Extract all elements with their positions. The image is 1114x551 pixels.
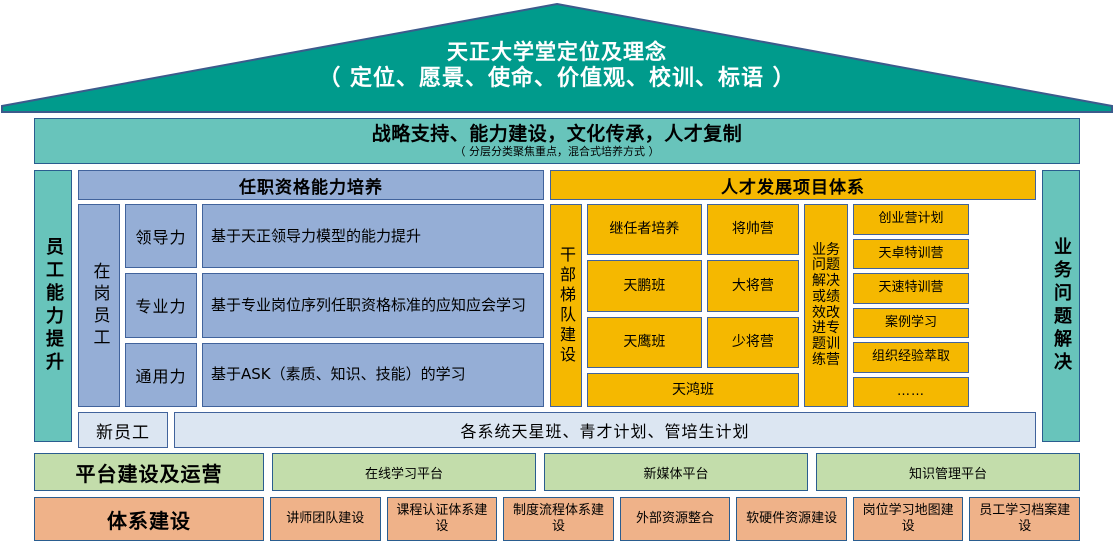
strategy-band: 战略支持、能力建设，文化传承，人才复制 （ 分层分类聚焦重点，混合式培养方式 ）	[34, 118, 1080, 164]
program-general-camp[interactable]: 将帅营	[707, 204, 799, 255]
program-successor-training[interactable]: 继任者培养	[587, 204, 702, 255]
capability-desc-general: 基于ASK（素质、知识、技能）的学习	[202, 343, 544, 407]
program-side-list: 创业营计划 天卓特训营 天速特训营 案例学习 组织经验萃取 ……	[853, 204, 969, 407]
capability-desc-professional: 基于专业岗位序列任职资格标准的应知应会学习	[202, 273, 544, 337]
program-org-experience-extraction[interactable]: 组织经验萃取	[853, 342, 969, 373]
program-grid: 继任者培养 将帅营 天鹏班 大将营 天鹰班 少将营	[587, 204, 799, 407]
capability-name-professional[interactable]: 专业力	[125, 273, 197, 337]
orange-panel-content: 干部梯队建设 继任者培养 将帅营 天鹏班 大将营	[550, 204, 1036, 407]
system-item-instructor-team[interactable]: 讲师团队建设	[270, 497, 381, 541]
capability-row: 领导力 基于天正领导力模型的能力提升	[125, 204, 544, 268]
program-row: 天鹏班 大将营	[587, 260, 799, 311]
new-employee-row: 新员工 各系统天星班、青才计划、管培生计划	[78, 412, 1036, 448]
side-column-business-problem-solving: 业务问题解决	[1042, 170, 1080, 442]
capability-name-general[interactable]: 通用力	[125, 343, 197, 407]
roof-banner: 天正大学堂定位及理念 （ 定位、愿景、使命、价值观、校训、标语 ）	[0, 2, 1114, 114]
program-minor-general-camp[interactable]: 少将营	[707, 317, 799, 368]
program-row: 天鹰班 少将营	[587, 317, 799, 368]
training-architecture-diagram: 天正大学堂定位及理念 （ 定位、愿景、使命、价值观、校训、标语 ） 战略支持、能…	[0, 0, 1114, 551]
capability-row: 通用力 基于ASK（素质、知识、技能）的学习	[125, 343, 544, 407]
platform-row-title: 平台建设及运营	[34, 453, 264, 491]
program-tianying-class[interactable]: 天鹰班	[587, 317, 702, 368]
system-item-hardware-software[interactable]: 软硬件资源建设	[736, 497, 847, 541]
program-tianpeng-class[interactable]: 天鹏班	[587, 260, 702, 311]
program-more-ellipsis[interactable]: ……	[853, 377, 969, 408]
new-employee-tag[interactable]: 新员工	[78, 412, 168, 448]
capability-row: 专业力 基于专业岗位序列任职资格标准的应知应会学习	[125, 273, 544, 337]
system-item-course-certification[interactable]: 课程认证体系建设	[387, 497, 498, 541]
business-problem-training-label: 业务问题解决或绩效改进专题训练营	[804, 204, 848, 407]
capability-rows: 领导力 基于天正领导力模型的能力提升 专业力 基于专业岗位序列任职资格标准的应知…	[125, 204, 544, 407]
platform-row: 平台建设及运营 在线学习平台 新媒体平台 知识管理平台	[34, 453, 1080, 491]
main-body: 员工能力提升 任职资格能力培养 在岗员工 领导力 基于天正领导力模型的能力提升	[34, 170, 1080, 448]
system-item-external-resources[interactable]: 外部资源整合	[620, 497, 731, 541]
talent-development-panel: 人才发展项目体系 干部梯队建设 继任者培养 将帅营 天鹏班	[550, 170, 1036, 407]
system-construction-row: 体系建设 讲师团队建设 课程认证体系建设 制度流程体系建设 外部资源整合 软硬件…	[34, 497, 1080, 541]
orange-panel-header: 人才发展项目体系	[550, 170, 1036, 200]
system-item-job-learning-map[interactable]: 岗位学习地图建设	[853, 497, 964, 541]
strategy-main-text: 战略支持、能力建设，文化传承，人才复制	[372, 124, 743, 145]
program-grid-rows: 继任者培养 将帅营 天鹏班 大将营 天鹰班 少将营	[587, 204, 799, 368]
system-row-title: 体系建设	[34, 497, 264, 541]
blue-panel-header: 任职资格能力培养	[78, 170, 544, 200]
center-stack: 任职资格能力培养 在岗员工 领导力 基于天正领导力模型的能力提升 专业力 基于专…	[78, 170, 1036, 448]
system-item-employee-learning-archive[interactable]: 员工学习档案建设	[969, 497, 1080, 541]
side-column-employee-capability: 员工能力提升	[34, 170, 72, 442]
strategy-sub-text: （ 分层分类聚焦重点，混合式培养方式 ）	[455, 146, 660, 158]
program-major-general-camp[interactable]: 大将营	[707, 260, 799, 311]
roof-shape	[0, 2, 1114, 114]
platform-item-new-media[interactable]: 新媒体平台	[544, 453, 808, 491]
platform-item-online-learning[interactable]: 在线学习平台	[272, 453, 536, 491]
qualification-capability-panel: 任职资格能力培养 在岗员工 领导力 基于天正领导力模型的能力提升 专业力 基于专…	[78, 170, 544, 407]
new-employee-programs: 各系统天星班、青才计划、管培生计划	[174, 412, 1036, 448]
system-item-process-system[interactable]: 制度流程体系建设	[503, 497, 614, 541]
panels-container: 任职资格能力培养 在岗员工 领导力 基于天正领导力模型的能力提升 专业力 基于专…	[78, 170, 1036, 407]
on-job-employee-label: 在岗员工	[78, 204, 120, 407]
cadre-echelon-label: 干部梯队建设	[550, 204, 582, 407]
program-entrepreneurship-plan[interactable]: 创业营计划	[853, 204, 969, 235]
program-tiansu-camp[interactable]: 天速特训营	[853, 273, 969, 304]
blue-panel-content: 在岗员工 领导力 基于天正领导力模型的能力提升 专业力 基于专业岗位序列任职资格…	[78, 204, 544, 407]
program-case-study[interactable]: 案例学习	[853, 308, 969, 339]
capability-desc-leadership: 基于天正领导力模型的能力提升	[202, 204, 544, 268]
program-tianhong-class[interactable]: 天鸿班	[587, 373, 799, 407]
platform-item-knowledge-management[interactable]: 知识管理平台	[816, 453, 1080, 491]
program-row: 继任者培养 将帅营	[587, 204, 799, 255]
program-tianzhuo-camp[interactable]: 天卓特训营	[853, 239, 969, 270]
capability-name-leadership[interactable]: 领导力	[125, 204, 197, 268]
